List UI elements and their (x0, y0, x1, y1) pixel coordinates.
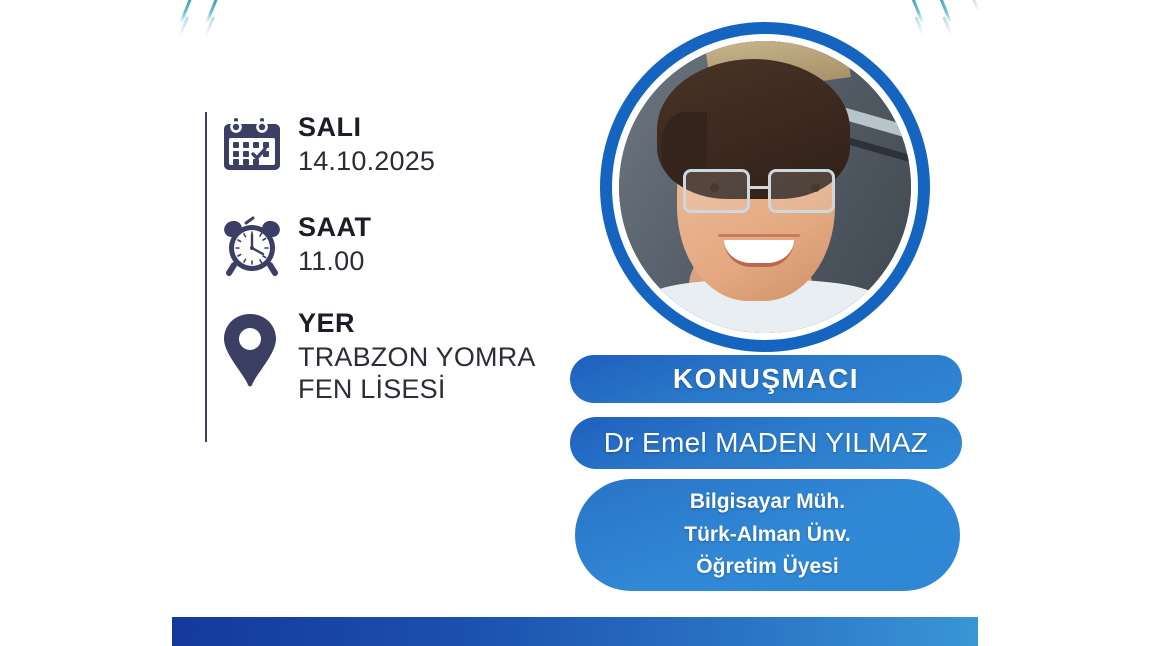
speaker-role-badge: KONUŞMACI (570, 355, 962, 403)
detail-row-date: SALI 14.10.2025 (222, 112, 582, 178)
vertical-divider (205, 112, 207, 442)
detail-value-place: TRABZON YOMRA FEN LİSESİ (298, 342, 536, 406)
location-pin-icon (222, 308, 288, 388)
detail-value-date: 14.10.2025 (298, 146, 435, 178)
speaker-photo-inner-ring (612, 34, 918, 340)
affiliation-line-2: Türk-Alman Ünv. (684, 519, 850, 552)
event-details-list: SALI 14.10.2025 (222, 112, 582, 406)
bottom-accent-bar (172, 617, 978, 646)
detail-row-time: SAAT 11.00 (222, 212, 582, 278)
detail-label-date: SALI (298, 112, 435, 143)
calendar-icon (222, 112, 288, 174)
detail-value-time: 11.00 (298, 246, 372, 278)
detail-label-time: SAAT (298, 212, 372, 243)
affiliation-line-3: Öğretim Üyesi (696, 551, 838, 584)
detail-text-place: YER TRABZON YOMRA FEN LİSESİ (288, 308, 536, 406)
speaker-name-badge: Dr Emel MADEN YILMAZ (570, 417, 962, 469)
detail-text-date: SALI 14.10.2025 (288, 112, 435, 178)
affiliation-line-1: Bilgisayar Müh. (690, 486, 845, 519)
speaker-photo-ring (600, 22, 930, 352)
alarm-clock-icon (222, 212, 288, 276)
speaker-portrait (619, 41, 911, 333)
event-poster: SALI 14.10.2025 (0, 0, 1150, 646)
detail-label-place: YER (298, 308, 536, 339)
detail-text-time: SAAT 11.00 (288, 212, 372, 278)
detail-row-place: YER TRABZON YOMRA FEN LİSESİ (222, 308, 582, 406)
speaker-affiliation-badge: Bilgisayar Müh. Türk-Alman Ünv. Öğretim … (575, 479, 960, 591)
